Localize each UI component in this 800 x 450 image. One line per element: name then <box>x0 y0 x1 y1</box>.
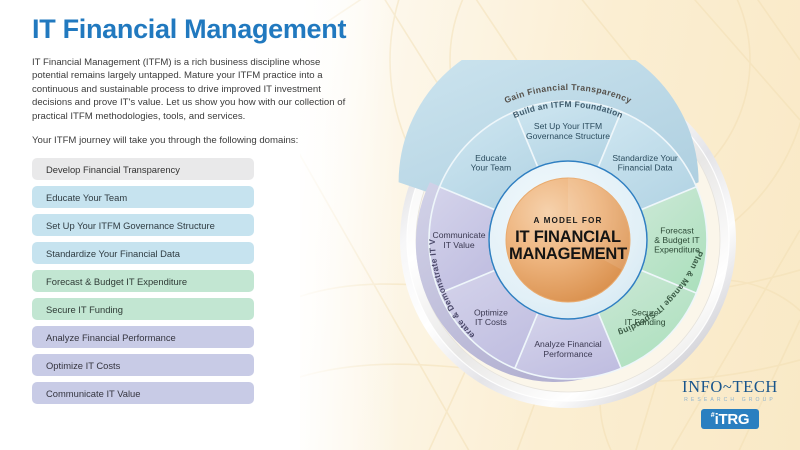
domain-list: Develop Financial TransparencyEducate Yo… <box>32 158 254 404</box>
lead-paragraph: Your ITFM journey will take you through … <box>32 134 356 147</box>
wheel-segment-label: Set Up Your ITFMGovernance Structure <box>526 121 610 141</box>
itrg-hash: # <box>711 412 715 419</box>
logo-wordmark: INFO~TECH <box>676 378 784 396</box>
domain-item-label: Set Up Your ITFM Governance Structure <box>46 220 215 231</box>
center-title-line1: IT FINANCIAL <box>515 228 621 246</box>
domain-item[interactable]: Analyze Financial Performance <box>32 326 254 348</box>
itfm-model-wheel: Gain Financial Transparency Build an ITF… <box>388 60 748 420</box>
domain-item-label: Standardize Your Financial Data <box>46 248 180 259</box>
domain-item[interactable]: Forecast & Budget IT Expenditure <box>32 270 254 292</box>
domain-item[interactable]: Standardize Your Financial Data <box>32 242 254 264</box>
domain-item[interactable]: Educate Your Team <box>32 186 254 208</box>
domain-item-label: Optimize IT Costs <box>46 360 120 371</box>
domain-item-label: Analyze Financial Performance <box>46 332 176 343</box>
info-tech-logo: INFO~TECH RESEARCH GROUP # iTRG <box>676 378 784 429</box>
domain-item[interactable]: Optimize IT Costs <box>32 354 254 376</box>
wheel-segment-label: Standardize YourFinancial Data <box>612 153 678 173</box>
wheel-segment-label: Forecast& Budget ITExpenditure <box>654 225 700 254</box>
slide-canvas: IT Financial Management IT Financial Man… <box>0 0 800 450</box>
itrg-badge: # iTRG <box>701 409 759 429</box>
wheel-segment-label: Analyze FinancialPerformance <box>534 339 601 359</box>
domain-item[interactable]: Set Up Your ITFM Governance Structure <box>32 214 254 236</box>
itrg-text: iTRG <box>715 411 750 428</box>
wheel-svg: Gain Financial Transparency Build an ITF… <box>388 60 748 420</box>
wheel-segment-label: EducateYour Team <box>471 153 512 173</box>
domain-item-label: Educate Your Team <box>46 192 127 203</box>
domain-item-label: Secure IT Funding <box>46 304 123 315</box>
domain-item[interactable]: Develop Financial Transparency <box>32 158 254 180</box>
domain-item[interactable]: Communicate IT Value <box>32 382 254 404</box>
domain-item-label: Forecast & Budget IT Expenditure <box>46 276 187 287</box>
center-title-line2: MANAGEMENT <box>509 245 627 263</box>
domain-item-label: Communicate IT Value <box>46 388 141 399</box>
domain-item-label: Develop Financial Transparency <box>46 164 180 175</box>
page-title: IT Financial Management <box>32 14 356 44</box>
intro-paragraph: IT Financial Management (ITFM) is a rich… <box>32 56 350 123</box>
logo-tagline: RESEARCH GROUP <box>676 397 784 403</box>
wheel-segment-label: OptimizeIT Costs <box>474 307 508 327</box>
left-content-column: IT Financial Management IT Financial Man… <box>32 14 356 410</box>
domain-item[interactable]: Secure IT Funding <box>32 298 254 320</box>
center-eyebrow: A MODEL FOR <box>534 216 603 225</box>
